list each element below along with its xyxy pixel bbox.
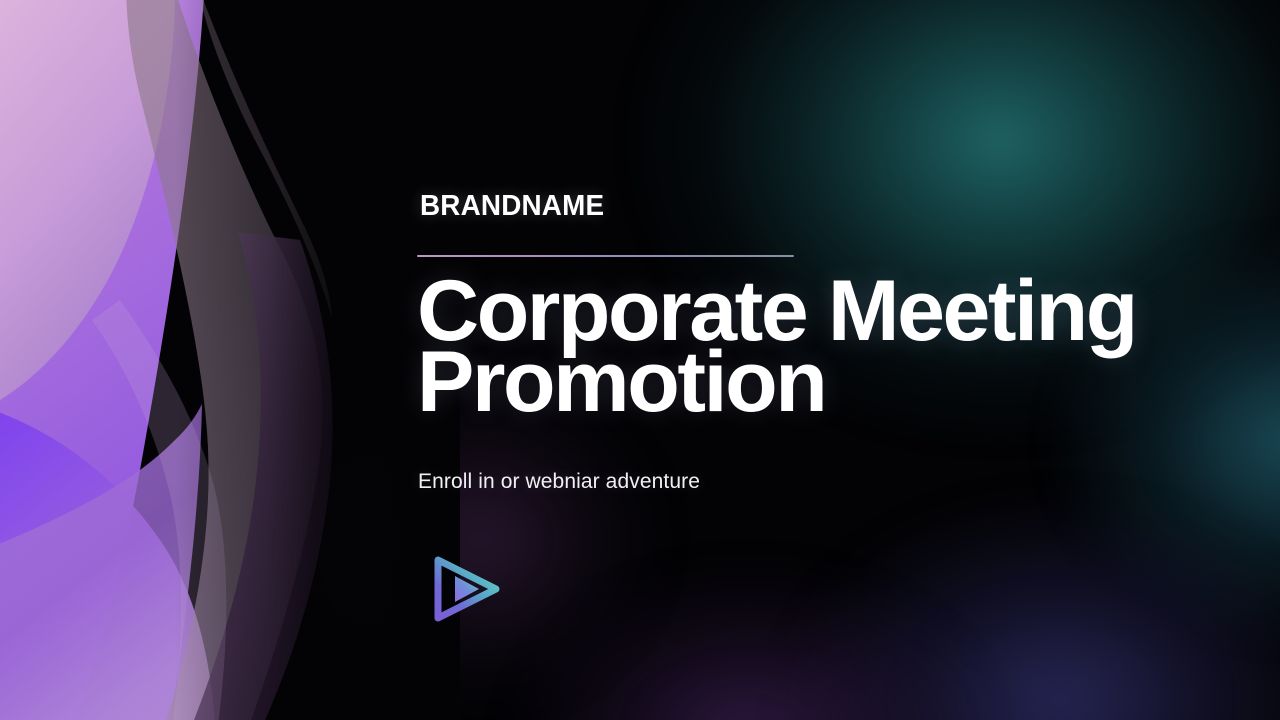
divider-rule [417, 255, 794, 257]
play-triangle-icon[interactable] [431, 553, 503, 625]
content-block: BRANDNAME Corporate Meeting Promotion En… [417, 0, 1197, 720]
page-title: Corporate Meeting Promotion [417, 276, 1207, 419]
subtitle: Enroll in or webniar adventure [418, 469, 700, 494]
brand-name: BRANDNAME [420, 192, 604, 221]
promo-slide: BRANDNAME Corporate Meeting Promotion En… [0, 0, 1280, 720]
decorative-ribbon-artwork [0, 0, 460, 720]
